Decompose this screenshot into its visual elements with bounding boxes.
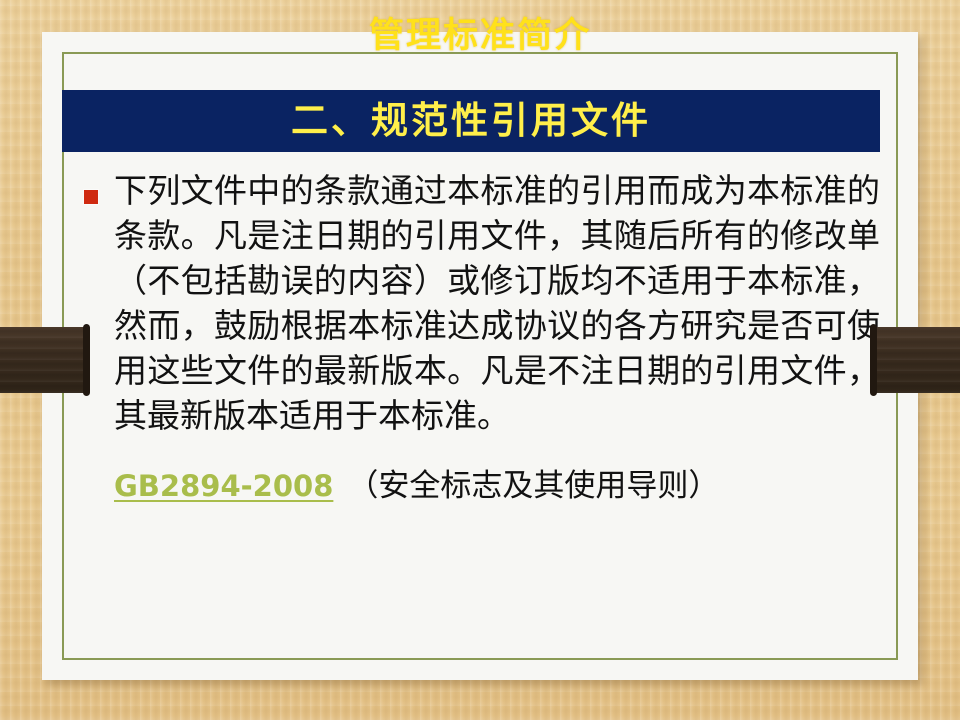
decorative-ribbon-left (0, 327, 89, 393)
decorative-ribbon-right (871, 327, 960, 393)
reference-line: GB2894-2008（安全标志及其使用导则） (62, 464, 880, 508)
section-title-banner: 二、规范性引用文件 (62, 90, 880, 152)
bullet-item: 下列文件中的条款通过本标准的引用而成为本标准的条款。凡是注日期的引用文件，其随后… (62, 168, 880, 438)
square-bullet-icon (84, 190, 98, 204)
bullet-paragraph-text: 下列文件中的条款通过本标准的引用而成为本标准的条款。凡是注日期的引用文件，其随后… (114, 168, 880, 438)
ribbon-end-cap-icon (870, 324, 877, 396)
slide-root: 管理标准简介 二、规范性引用文件 下列文件中的条款通过本标准的引用而成为本标准的… (0, 0, 960, 720)
section-title-text: 二、规范性引用文件 (291, 101, 651, 141)
ribbon-end-cap-icon (83, 324, 90, 396)
reference-standard-note: （安全标志及其使用导则） (347, 468, 719, 504)
slide-body: 下列文件中的条款通过本标准的引用而成为本标准的条款。凡是注日期的引用文件，其随后… (62, 168, 880, 508)
reference-standard-link[interactable]: GB2894-2008 (114, 469, 333, 503)
deck-header-title: 管理标准简介 (0, 14, 960, 58)
